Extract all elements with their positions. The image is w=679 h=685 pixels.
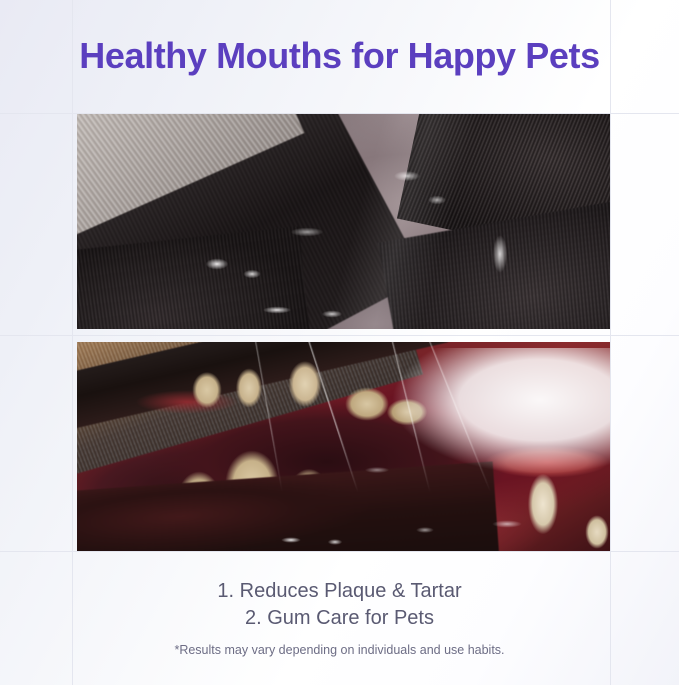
benefits-list: 1. Reduces Plaque & Tartar 2. Gum Care f… [0, 578, 679, 632]
benefit-item-1: 1. Reduces Plaque & Tartar [0, 578, 679, 605]
page-title: Healthy Mouths for Happy Pets [0, 32, 679, 80]
benefit-item-2: 2. Gum Care for Pets [0, 605, 679, 632]
grid-line-horizontal-3 [0, 551, 679, 552]
product-infographic: Healthy Mouths for Happy Pets [0, 0, 679, 685]
grid-line-horizontal-2 [0, 335, 679, 336]
tartar-mouth-photo [77, 342, 610, 551]
tartar-mouth-whiskers [77, 342, 610, 551]
disclaimer-text: *Results may vary depending on individua… [0, 641, 679, 659]
healthy-mouth-photo [77, 114, 610, 329]
healthy-mouth-desaturation [77, 114, 610, 329]
